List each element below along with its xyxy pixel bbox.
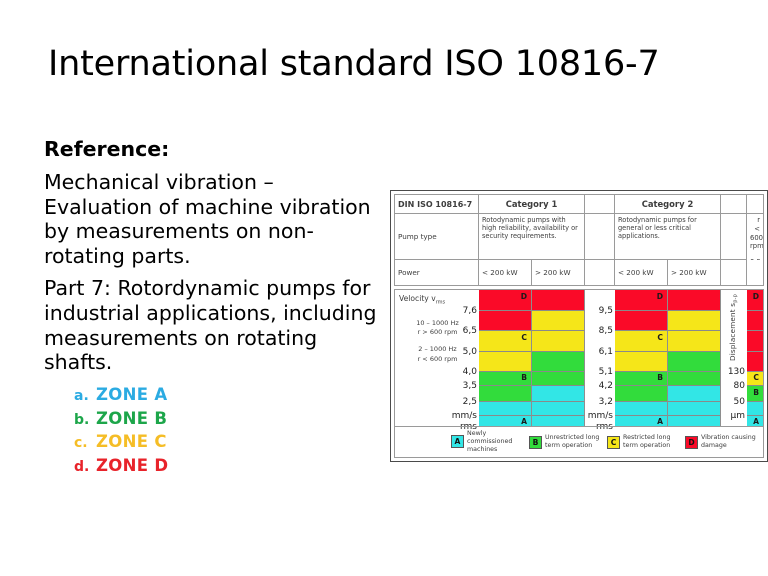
iso-zone-chart-figure: DIN ISO 10816-7 Category 1 Category 2 Pu… [390,190,768,462]
unit-label: mm/s [588,411,613,421]
pump-type-label: Pump type [395,214,479,260]
band-zone-c [668,331,720,351]
legend-item-c: C Restricted long term operation [607,434,685,450]
tick-label: 7,6 [463,306,477,316]
list-item: a. ZONE A [74,383,380,407]
tick-label: 8,5 [599,326,613,336]
band-zone-a [532,402,584,416]
tick-label: 3,5 [463,381,477,391]
body-text-column: Reference: Mechanical vibration – Evalua… [44,138,380,478]
pump-type-cat2-text: Rotodynamic pumps for general or less cr… [615,214,721,260]
band-zone-a: A [747,416,763,426]
legend-swatch-c: C [607,436,620,449]
tick-label: 3,2 [599,397,613,407]
zone-band-chart: Velocity vrms 10 – 1000 Hz r > 600 rpm 2… [394,289,764,427]
band-zone-b [668,372,720,386]
displacement-axis-labels: Displacement sp-p 130 80 50 µm [721,290,747,426]
zone-letter-b: B [521,373,527,382]
page-title: International standard ISO 10816-7 [48,44,738,84]
band-zone-a [747,402,763,416]
list-item-label: ZONE B [96,407,167,430]
zone-letter-c: C [521,333,527,342]
list-item: d. ZONE D [74,454,380,478]
zone-letter-c: C [753,373,759,382]
band-zone-c [615,352,667,372]
band-zone-a [668,386,720,402]
legend-swatch-b: B [529,436,542,449]
band-zone-a [479,402,531,416]
power-label: Power [395,260,479,285]
spacer-cell-6 [721,260,747,285]
zone-letter-b: B [657,373,663,382]
band-zone-d [532,290,584,311]
figure-header-table: DIN ISO 10816-7 Category 1 Category 2 Pu… [394,194,764,286]
tick-label: 130 [728,367,745,377]
zone-letter-d: D [657,292,663,301]
band-zone-c: C [615,331,667,351]
power-cat1-b: > 200 kW [532,260,585,285]
category-2-header: Category 2 [615,195,721,214]
band-zone-d [747,311,763,331]
tick-label: 5,1 [599,367,613,377]
pump-type-cat1-text: Rotodynamic pumps with high reliability,… [479,214,585,260]
band-zone-b: B [479,372,531,386]
band-column-cat2-gt200 [668,290,721,426]
legend-item-a: A Newly commissioned machines [451,430,529,454]
zone-letter-d: D [753,292,759,301]
zone-letter-a: A [657,417,663,426]
band-zone-d [615,311,667,331]
zone-letter-b: B [753,388,759,397]
band-zone-c: C [747,372,763,386]
velocity-axis-labels: Velocity vrms 10 – 1000 Hz r > 600 rpm 2… [395,290,479,426]
paragraph-definition: Mechanical vibration – Evaluation of mac… [44,170,380,268]
unit-label: µm [731,411,746,421]
band-zone-c: C [479,331,531,351]
band-zone-b: B [747,386,763,402]
list-marker: c. [74,434,96,454]
list-item-label: ZONE A [96,383,167,406]
band-zone-d [747,352,763,372]
legend-text-d: Vibration causing damage [701,434,763,450]
cat1-tick-labels: 7,6 6,5 5,0 4,0 3,5 2,5 mm/s rms [445,290,477,426]
legend-item-d: D Vibration causing damage [685,434,763,450]
list-item: b. ZONE B [74,407,380,431]
legend-swatch-d: D [685,436,698,449]
zone-letter-c: C [657,333,663,342]
band-zone-d [747,331,763,351]
band-zone-d: D [479,290,531,311]
legend-text-c: Restricted long term operation [623,434,685,450]
slide: International standard ISO 10816-7 Refer… [0,0,768,576]
tick-label: 5,0 [463,347,477,357]
spacer-cell-4 [721,214,747,260]
band-zone-b [615,386,667,402]
zone-list: a. ZONE A b. ZONE B c. ZONE C d. ZONE D [44,383,380,479]
band-zone-c [532,311,584,331]
band-column-cat1-lt200: D C B A [479,290,532,426]
band-zone-d: D [747,290,763,311]
velocity-subscript: rms [436,300,445,306]
power-cat1-a: < 200 kW [479,260,532,285]
spacer-cell-7 [747,260,763,285]
speed-note-top: r < 600 rpm [750,216,760,251]
tick-label: 80 [734,381,745,391]
category-1-header: Category 1 [479,195,585,214]
band-zone-a [668,402,720,416]
cat2-tick-labels: 9,5 8,5 6,1 5,1 4,2 3,2 mm/s rms [583,290,613,426]
legend-item-b: B Unrestricted long term operation [529,434,607,450]
band-zone-a: A [479,416,531,426]
spacer-cell-2 [721,195,747,214]
zone-legend: A Newly commissioned machines B Unrestri… [394,426,764,458]
band-zone-b [479,386,531,402]
spacer-cell-5 [585,260,615,285]
zone-letter-a: A [753,417,759,426]
band-zone-a [668,416,720,426]
cat2-tick-column: 9,5 8,5 6,1 5,1 4,2 3,2 mm/s rms [585,290,615,426]
paragraph-part7: Part 7: Rotordynamic pumps for industria… [44,276,380,374]
band-zone-b [668,352,720,372]
band-zone-c [532,331,584,351]
band-zone-d: D [615,290,667,311]
unit-label: mm/s [452,411,477,421]
zone-letter-a: A [521,417,527,426]
speed-note-cell: r < 600 rpm 0.5 rpm 1.0 rpm 2.0 rpm [747,214,763,260]
power-cat2-b: > 200 kW [668,260,721,285]
list-marker: a. [74,387,96,407]
band-zone-b [532,372,584,386]
band-column-cat1-gt200 [532,290,585,426]
band-zone-c [668,311,720,331]
band-zone-d [668,290,720,311]
standard-name-cell: DIN ISO 10816-7 [395,195,479,214]
band-column-displacement: D C B A [747,290,763,426]
zone-letter-d: D [521,292,527,301]
tick-label: 50 [734,397,745,407]
speed-header-cell [747,195,763,214]
tick-label: 2,5 [463,397,477,407]
list-marker: b. [74,411,96,431]
list-marker: d. [74,458,96,478]
list-item-label: ZONE C [96,430,167,453]
tick-label: 9,5 [599,306,613,316]
tick-label: 6,1 [599,347,613,357]
power-cat2-a: < 200 kW [615,260,668,285]
legend-swatch-a: A [451,435,464,448]
band-zone-a: A [615,416,667,426]
spacer-cell-3 [585,214,615,260]
tick-label: 4,0 [463,367,477,377]
list-item: c. ZONE C [74,430,380,454]
displacement-tick-labels: 130 80 50 µm [715,290,745,426]
reference-heading: Reference: [44,138,380,161]
tick-label: 4,2 [599,381,613,391]
band-zone-d [479,311,531,331]
spacer-cell-1 [585,195,615,214]
band-zone-c [479,352,531,372]
list-item-label: ZONE D [96,454,168,477]
band-zone-a [532,416,584,426]
band-column-cat2-lt200: D C B A [615,290,668,426]
band-zone-a [532,386,584,402]
band-zone-b: B [615,372,667,386]
band-zone-b [532,352,584,372]
band-zone-a [615,402,667,416]
legend-text-b: Unrestricted long term operation [545,434,607,450]
legend-text-a: Newly commissioned machines [467,430,529,454]
tick-label: 6,5 [463,326,477,336]
